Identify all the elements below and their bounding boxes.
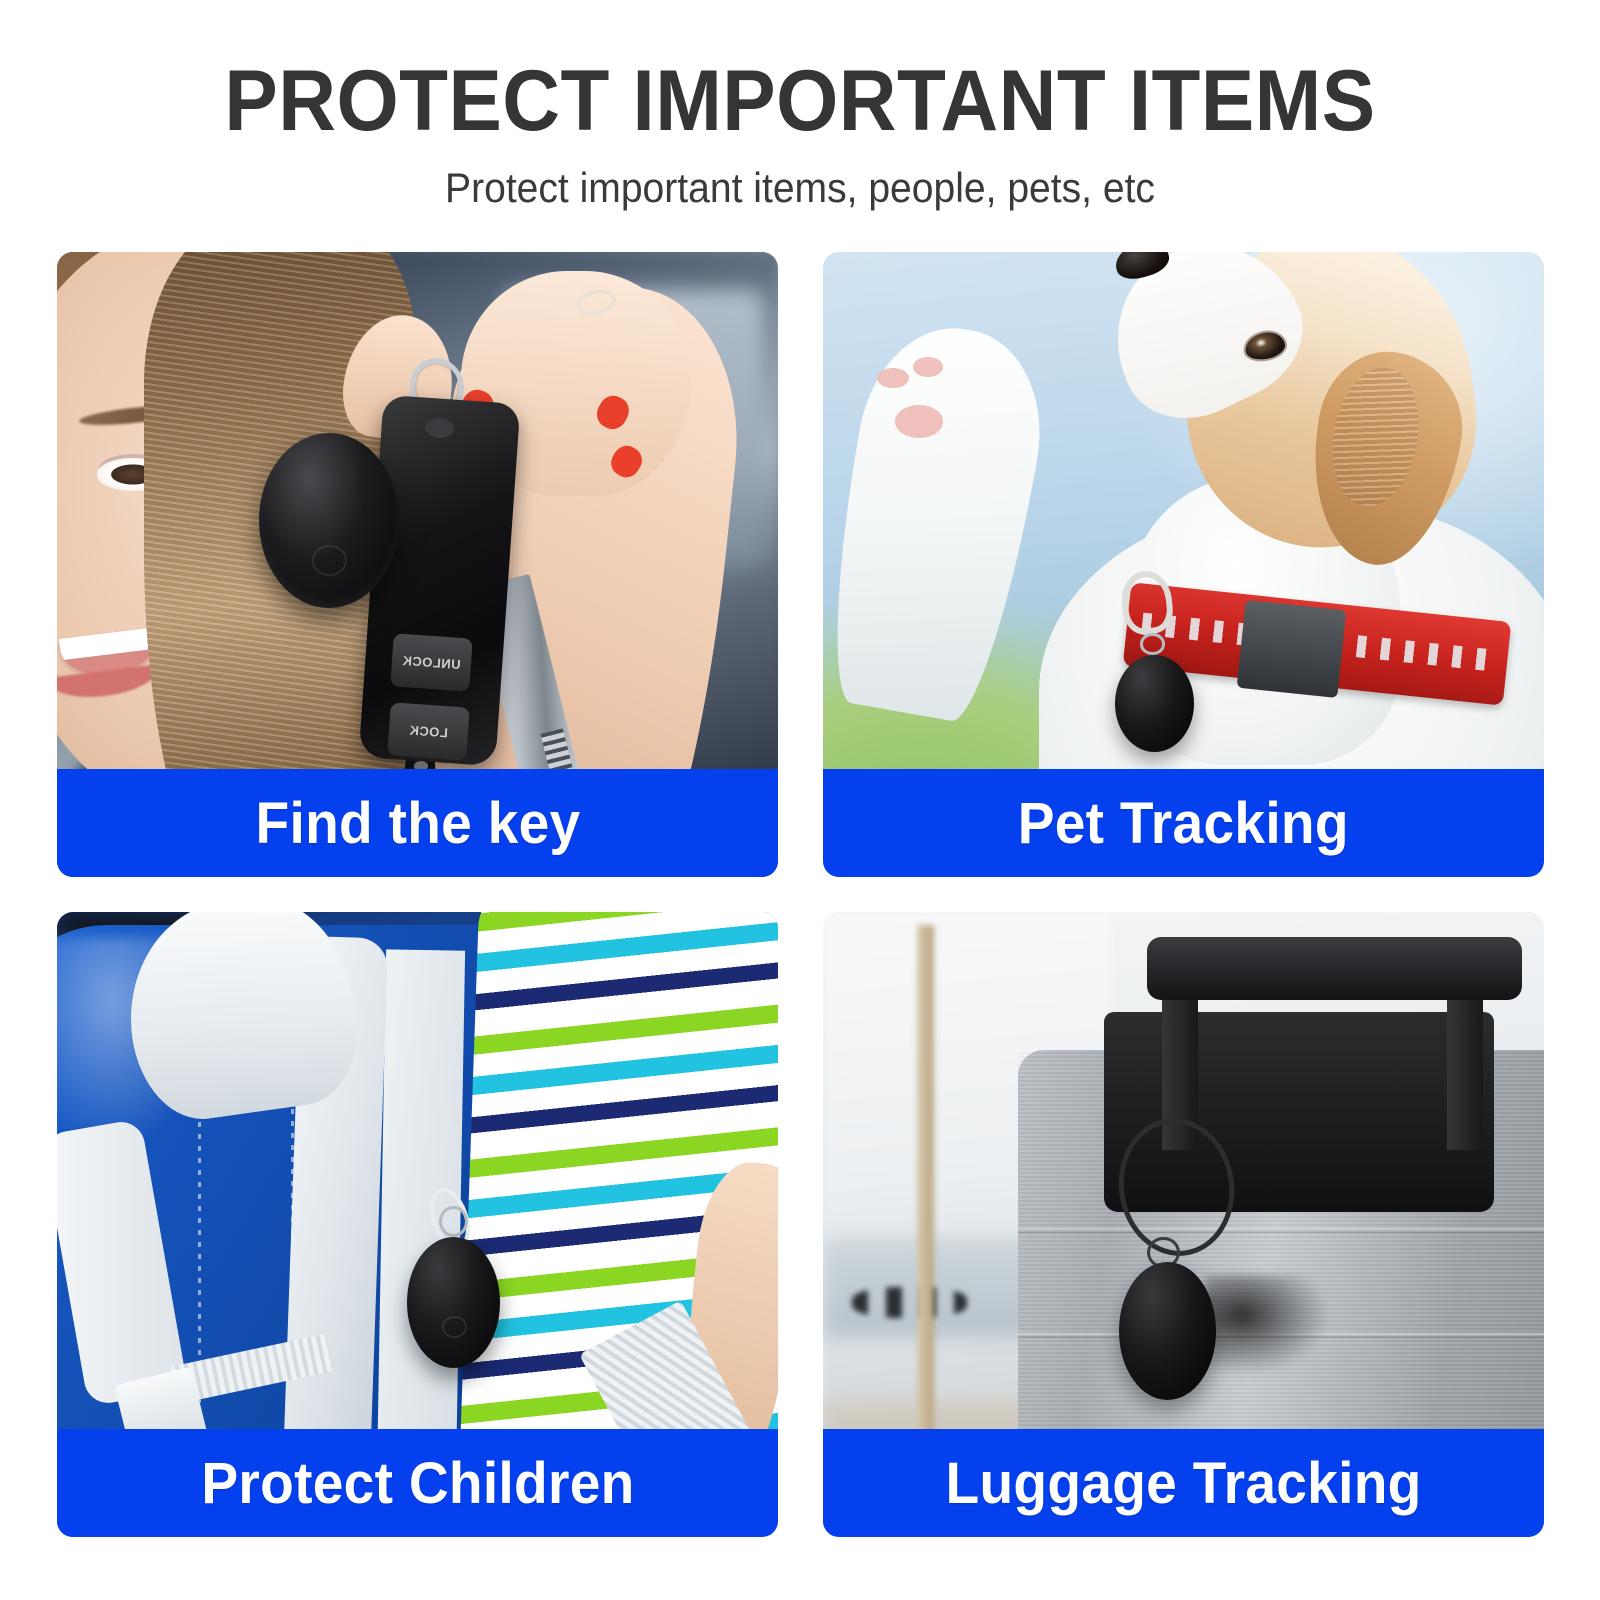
- card-caption-label: Protect Children: [201, 1450, 634, 1517]
- tracker-tag: [259, 433, 400, 608]
- tag-ring-icon: [439, 1206, 468, 1237]
- promo-page: PROTECT IMPORTANT ITEMS Protect importan…: [0, 0, 1600, 1600]
- page-title: PROTECT IMPORTANT ITEMS: [56, 56, 1544, 146]
- feature-card-grid: UNLOCK LOCK Find the key: [57, 252, 1544, 1579]
- key-fob-lock-label: LOCK: [408, 723, 448, 741]
- card-caption-label: Find the key: [255, 790, 580, 857]
- tracker-tag: [407, 1237, 501, 1368]
- key-fob-unlock-label: UNLOCK: [402, 653, 462, 672]
- paw-pad: [895, 405, 943, 438]
- header: PROTECT IMPORTANT ITEMS Protect importan…: [0, 0, 1600, 212]
- handle-post: [1447, 987, 1483, 1150]
- key-fob-lock-button: LOCK: [387, 702, 470, 760]
- tracker-tag: [1115, 655, 1194, 752]
- tracker-tag: [1119, 1262, 1216, 1400]
- card-caption-bar: Protect Children: [57, 1429, 778, 1537]
- telescoping-handle: [1147, 937, 1522, 1000]
- card-caption-bar: Luggage Tracking: [823, 1429, 1544, 1537]
- background-figures: [852, 1287, 967, 1318]
- card-caption-bar: Pet Tracking: [823, 769, 1544, 877]
- key-fob-unlock-button: UNLOCK: [391, 634, 474, 692]
- tag-ring-icon: [1140, 633, 1165, 654]
- card-caption-label: Luggage Tracking: [945, 1450, 1421, 1517]
- feature-card-find-the-key[interactable]: UNLOCK LOCK Find the key: [57, 252, 778, 877]
- card-caption-bar: Find the key: [57, 769, 778, 877]
- paw-pad: [877, 368, 909, 388]
- feature-card-protect-children[interactable]: Protect Children: [57, 912, 778, 1537]
- feature-card-pet-tracking[interactable]: Pet Tracking: [823, 252, 1544, 877]
- card-caption-label: Pet Tracking: [1018, 790, 1349, 857]
- shadow-smudge: [1205, 1275, 1328, 1375]
- suitcase-rib: [1018, 1228, 1544, 1233]
- feature-card-luggage-tracking[interactable]: Luggage Tracking: [823, 912, 1544, 1537]
- collar-buckle: [1237, 600, 1347, 698]
- page-subtitle: Protect important items, people, pets, e…: [56, 164, 1544, 212]
